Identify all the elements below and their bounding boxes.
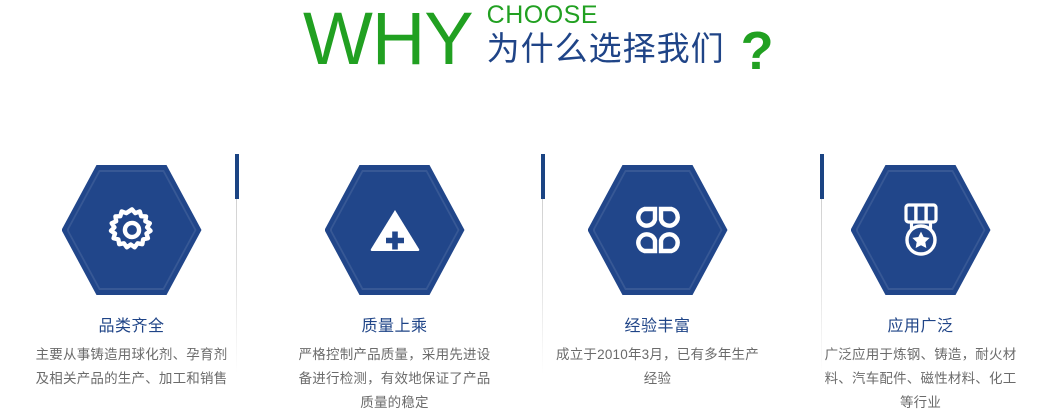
card-title: 经验丰富 bbox=[624, 317, 690, 337]
card-divider-3 bbox=[820, 154, 824, 416]
divider-accent bbox=[820, 154, 824, 199]
card-divider-2 bbox=[541, 154, 545, 416]
heading-question-mark: ? bbox=[741, 24, 774, 78]
heading-inner: WHY CHOOSE 为什么选择我们 ? bbox=[303, 0, 774, 78]
hexagon-badge bbox=[62, 165, 202, 295]
divider-line bbox=[821, 199, 822, 374]
feature-card-applications: 应用广泛 广泛应用于炼钢、铸造，耐火材料、汽车配件、磁性材料、化工等行业 bbox=[789, 150, 1052, 416]
card-description: 主要从事铸造用球化剂、孕育剂及相关产品的生产、加工和销售 bbox=[29, 343, 234, 391]
triangle-plus-icon bbox=[325, 165, 465, 295]
feature-card-quality: 质量上乘 严格控制产品质量，采用先进设备进行检测，有效地保证了产品质量的稳定 bbox=[263, 150, 526, 416]
heading-why: WHY bbox=[303, 2, 473, 76]
heading-chinese-title: 为什么选择我们 bbox=[487, 30, 725, 68]
gear-icon bbox=[62, 165, 202, 295]
hexagon-badge bbox=[325, 165, 465, 295]
divider-accent bbox=[235, 154, 239, 199]
divider-line bbox=[236, 199, 237, 374]
card-description: 严格控制产品质量，采用先进设备进行检测，有效地保证了产品质量的稳定 bbox=[292, 343, 497, 415]
divider-accent bbox=[541, 154, 545, 199]
hexagon-badge bbox=[851, 165, 991, 295]
card-divider-1 bbox=[235, 154, 239, 416]
card-title: 品类齐全 bbox=[98, 317, 164, 337]
section-heading: WHY CHOOSE 为什么选择我们 ? bbox=[0, 0, 1055, 92]
feature-card-product-range: 品类齐全 主要从事铸造用球化剂、孕育剂及相关产品的生产、加工和销售 bbox=[0, 150, 263, 416]
heading-choose: CHOOSE bbox=[487, 2, 725, 28]
card-description: 广泛应用于炼钢、铸造，耐火材料、汽车配件、磁性材料、化工等行业 bbox=[818, 343, 1023, 415]
hexagon-badge bbox=[588, 165, 728, 295]
divider-line bbox=[542, 199, 543, 374]
heading-choose-stack: CHOOSE 为什么选择我们 bbox=[487, 2, 725, 68]
feature-card-experience: 经验丰富 成立于2010年3月，已有多年生产经验 bbox=[526, 150, 789, 416]
card-description: 成立于2010年3月，已有多年生产经验 bbox=[555, 343, 760, 391]
medal-icon bbox=[851, 165, 991, 295]
clover-icon bbox=[588, 165, 728, 295]
card-title: 应用广泛 bbox=[887, 317, 953, 337]
card-title: 质量上乘 bbox=[361, 317, 427, 337]
feature-cards-row: 品类齐全 主要从事铸造用球化剂、孕育剂及相关产品的生产、加工和销售 质量上乘 严… bbox=[0, 150, 1055, 416]
